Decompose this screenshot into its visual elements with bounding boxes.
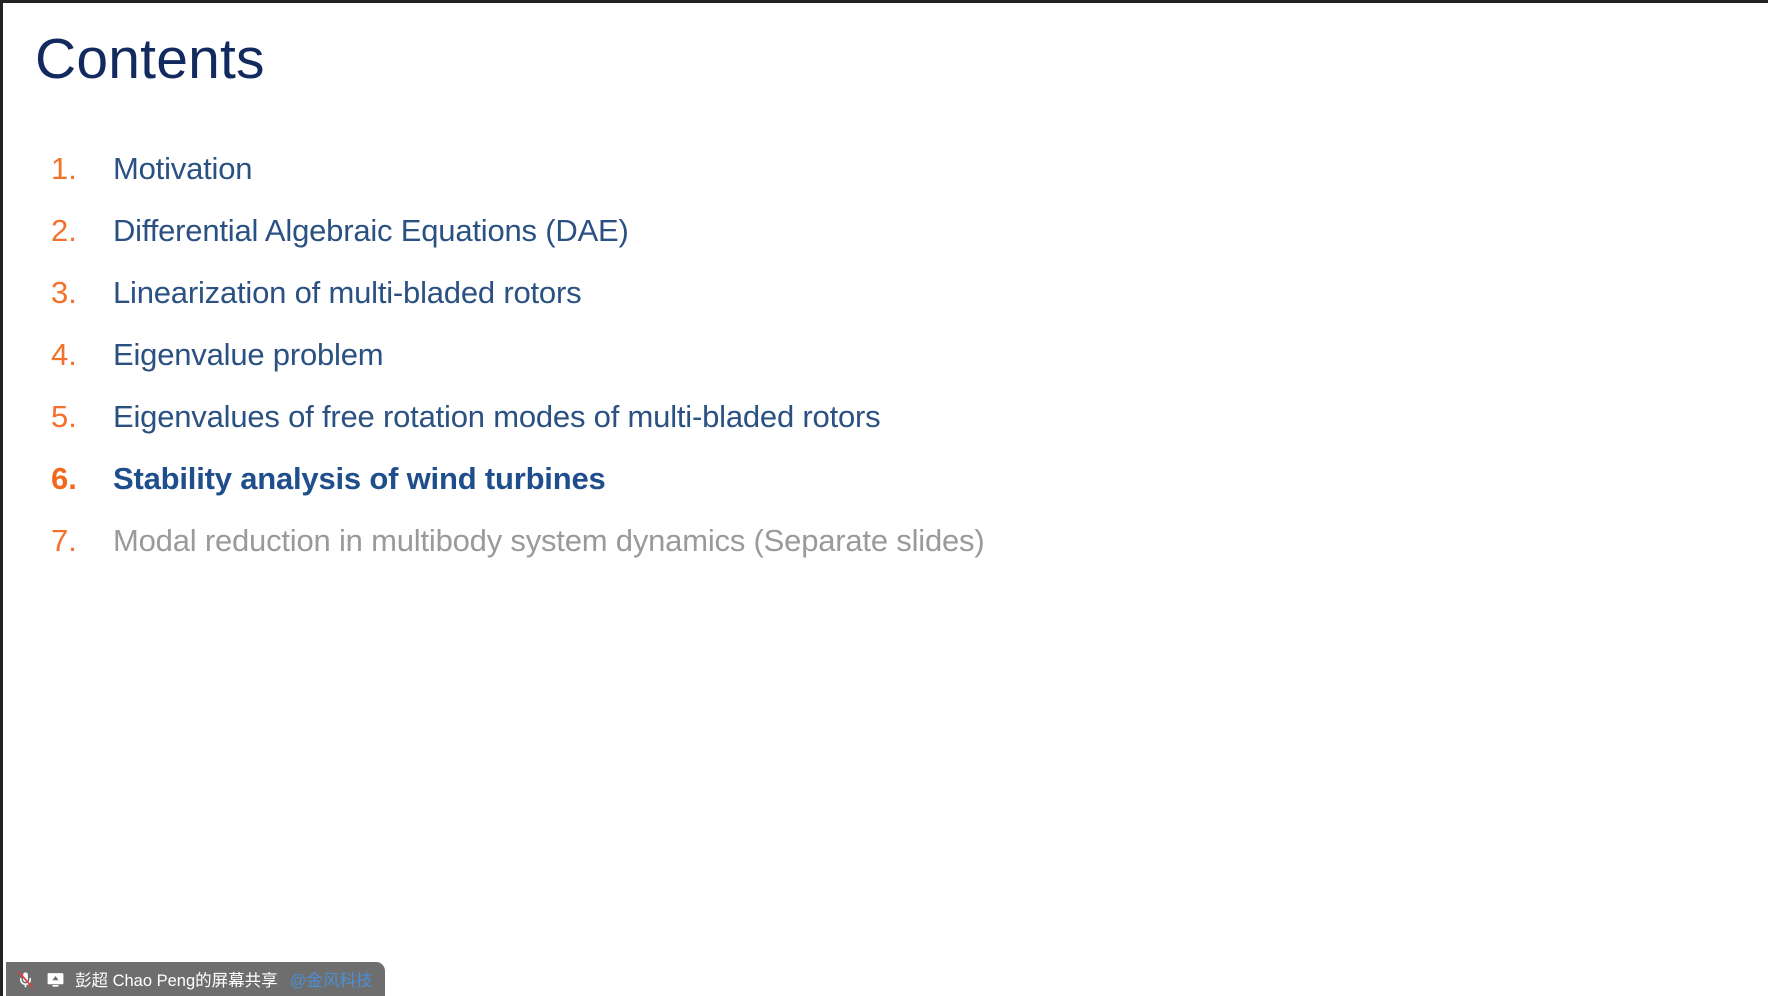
contents-item-label: Eigenvalues of free rotation modes of mu… (113, 397, 880, 437)
contents-item-number: 6. (51, 459, 113, 499)
screen-share-status-bar[interactable]: 彭超 Chao Peng的屏幕共享 @金风科技 (6, 962, 385, 996)
contents-item-number: 4. (51, 335, 113, 375)
screen-share-icon[interactable] (45, 969, 66, 990)
contents-item-number: 3. (51, 273, 113, 313)
contents-item-number: 2. (51, 211, 113, 251)
page-title: Contents (35, 29, 265, 91)
contents-item-label: Linearization of multi-bladed rotors (113, 273, 581, 313)
contents-item-label: Motivation (113, 149, 252, 189)
contents-item-7[interactable]: 7. Modal reduction in multibody system d… (3, 521, 1768, 583)
contents-item-label: Modal reduction in multibody system dyna… (113, 521, 984, 561)
share-label: 彭超 Chao Peng的屏幕共享 (75, 967, 278, 991)
contents-item-4[interactable]: 4. Eigenvalue problem (3, 335, 1768, 397)
contents-list: 1. Motivation 2. Differential Algebraic … (3, 149, 1768, 583)
share-org-label: @金风科技 (290, 967, 373, 991)
contents-item-number: 7. (51, 521, 113, 561)
contents-item-number: 5. (51, 397, 113, 437)
contents-item-5[interactable]: 5. Eigenvalues of free rotation modes of… (3, 397, 1768, 459)
microphone-muted-icon[interactable] (15, 969, 36, 990)
contents-item-label: Stability analysis of wind turbines (113, 459, 606, 499)
presentation-slide: Contents 1. Motivation 2. Differential A… (0, 0, 1768, 996)
contents-item-6[interactable]: 6. Stability analysis of wind turbines (3, 459, 1768, 521)
contents-item-3[interactable]: 3. Linearization of multi-bladed rotors (3, 273, 1768, 335)
contents-item-label: Eigenvalue problem (113, 335, 383, 375)
contents-item-1[interactable]: 1. Motivation (3, 149, 1768, 211)
contents-item-2[interactable]: 2. Differential Algebraic Equations (DAE… (3, 211, 1768, 273)
contents-item-label: Differential Algebraic Equations (DAE) (113, 211, 629, 251)
contents-item-number: 1. (51, 149, 113, 189)
